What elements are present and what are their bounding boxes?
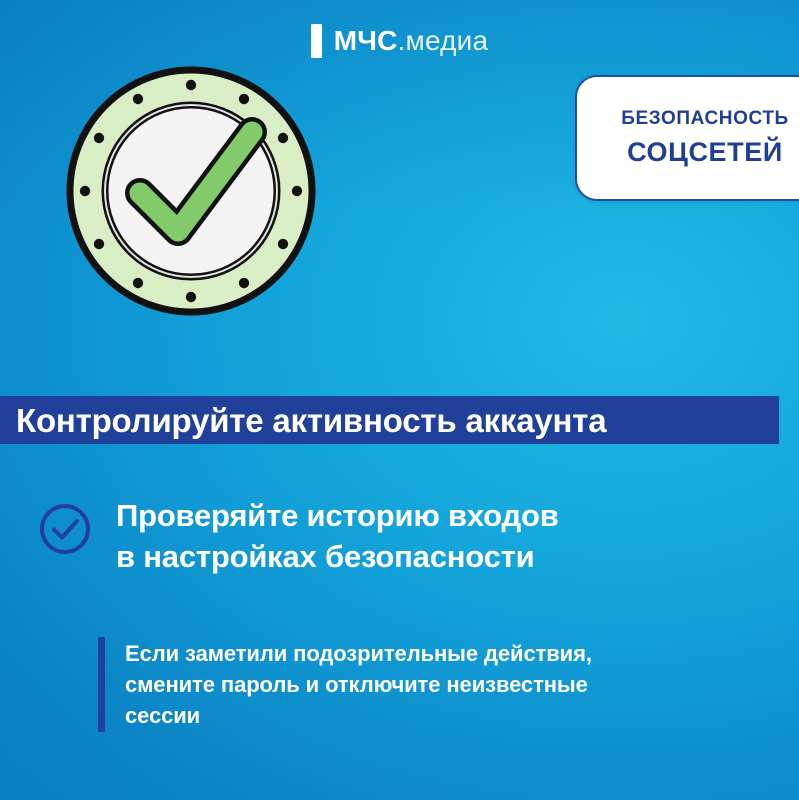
point-secondary: Если заметили подозрительные действия, с… bbox=[98, 637, 748, 732]
brand-logo-text: МЧС.медиа bbox=[334, 27, 489, 55]
green-check-badge-icon bbox=[62, 62, 320, 320]
brand-logo-main: МЧС bbox=[334, 25, 398, 56]
headline-banner: Контролируйте активность аккаунта bbox=[0, 396, 779, 444]
point-primary-line-1: Проверяйте историю входов bbox=[116, 496, 559, 537]
point-secondary-text: Если заметили подозрительные действия, с… bbox=[125, 637, 592, 732]
point-primary-text: Проверяйте историю входов в настройках б… bbox=[116, 496, 559, 578]
point-primary-line-2: в настройках безопасности bbox=[116, 537, 559, 578]
accent-bar bbox=[98, 637, 105, 732]
corner-badge-line1: БЕЗОПАСНОСТЬ bbox=[621, 108, 789, 130]
circle-check-icon bbox=[38, 502, 92, 556]
point-secondary-line-1: Если заметили подозрительные действия, bbox=[125, 638, 592, 669]
brand-logo-sub: .медиа bbox=[398, 25, 489, 56]
point-secondary-line-2: смените пароль и отключите неизвестные bbox=[125, 669, 592, 700]
corner-badge: БЕЗОПАСНОСТЬ СОЦСЕТЕЙ bbox=[575, 75, 799, 201]
corner-badge-line2: СОЦСЕТЕЙ bbox=[627, 137, 783, 168]
point-secondary-line-3: сессии bbox=[125, 700, 592, 731]
vertical-bar-icon bbox=[311, 24, 322, 58]
headline-text: Контролируйте активность аккаунта bbox=[0, 404, 606, 437]
brand-logo: МЧС.медиа bbox=[0, 24, 799, 58]
point-primary: Проверяйте историю входов в настройках б… bbox=[38, 496, 738, 578]
poster-canvas: МЧС.медиа БЕЗОПАСНОСТЬ СОЦСЕТЕЙ bbox=[0, 0, 799, 800]
